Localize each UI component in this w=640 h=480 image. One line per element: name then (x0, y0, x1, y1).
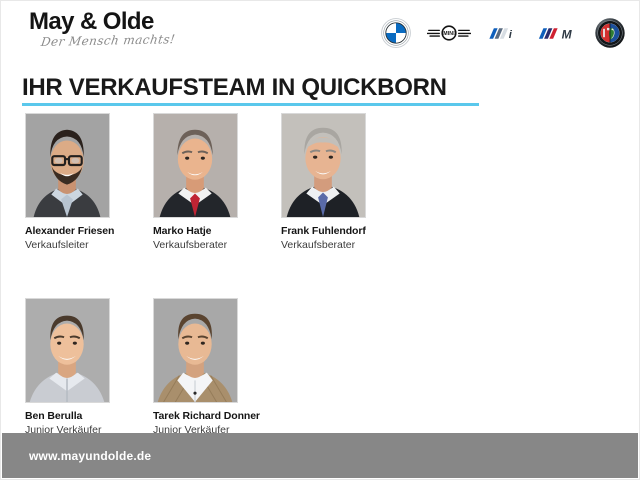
company-logo: May & Olde Der Mensch machts! (29, 10, 229, 49)
portrait-photo (282, 114, 365, 217)
avatar (25, 298, 110, 403)
team-member-card[interactable]: Alexander Friesen Verkaufsleiter (25, 113, 110, 251)
member-role: Verkaufsleiter (25, 239, 110, 252)
company-name: May & Olde (29, 10, 229, 34)
member-name: Tarek Richard Donner (153, 410, 238, 423)
member-name: Marko Hatje (153, 225, 238, 238)
footer-bar: www.mayundolde.de (2, 433, 638, 478)
portrait-photo (154, 299, 237, 402)
bmw-i-logo: i (487, 26, 521, 41)
bmw-m-logo: M (537, 26, 579, 41)
svg-text:MINI: MINI (443, 31, 455, 37)
team-row: Alexander Friesen Verkaufsleiter (25, 113, 629, 251)
page-title: IHR VERKAUFSTEAM IN QUICKBORN (22, 75, 622, 100)
portrait-photo (26, 114, 109, 217)
team-row: Ben Berulla Junior Verkäufer (25, 298, 629, 436)
avatar (25, 113, 110, 218)
svg-text:M: M (562, 27, 573, 41)
bmw-roundel-icon (381, 18, 411, 48)
title-underline (22, 103, 479, 106)
mini-logo: MINI (427, 22, 471, 44)
svg-text:i: i (509, 29, 513, 41)
team-member-card[interactable]: Frank Fuhlendorf Verkaufsberater (281, 113, 366, 251)
bmw-i-stripes-icon: i (487, 26, 521, 41)
member-name: Ben Berulla (25, 410, 110, 423)
member-name: Alexander Friesen (25, 225, 110, 238)
team-grid: Alexander Friesen Verkaufsleiter (25, 113, 629, 436)
company-slogan: Der Mensch machts! (40, 31, 231, 49)
brand-logo-bar: MINI i (381, 17, 625, 49)
bmw-m-stripes-icon: M (537, 26, 579, 41)
team-member-card[interactable]: Ben Berulla Junior Verkäufer (25, 298, 110, 436)
team-member-card[interactable]: Tarek Richard Donner Junior Verkäufer (153, 298, 238, 436)
avatar (153, 113, 238, 218)
page-title-block: IHR VERKAUFSTEAM IN QUICKBORN (22, 75, 622, 106)
team-member-card[interactable]: Marko Hatje Verkaufsberater (153, 113, 238, 251)
member-role: Verkaufsberater (281, 239, 366, 252)
bmw-logo (381, 18, 411, 48)
portrait-photo (154, 114, 237, 217)
portrait-photo (26, 299, 109, 402)
avatar (153, 298, 238, 403)
mini-wings-icon: MINI (427, 22, 471, 44)
slide-canvas: May & Olde Der Mensch machts! (0, 0, 640, 480)
alfa-romeo-logo (595, 18, 625, 48)
member-role: Verkaufsberater (153, 239, 238, 252)
alfa-romeo-shield-icon (595, 18, 625, 48)
member-name: Frank Fuhlendorf (281, 225, 366, 238)
avatar (281, 113, 366, 218)
website-url[interactable]: www.mayundolde.de (29, 449, 151, 463)
header: May & Olde Der Mensch machts! (1, 1, 639, 65)
